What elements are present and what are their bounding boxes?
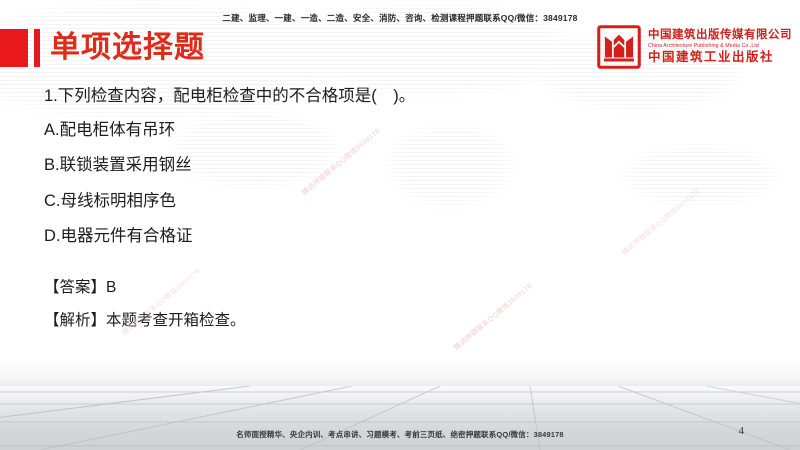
question-stem: 1.下列检查内容，配电柜检查中的不合格项是( )。	[44, 88, 744, 105]
option-d[interactable]: D.电器元件有合格证	[44, 228, 744, 245]
page-title: 单项选择题	[50, 33, 205, 63]
slide-canvas: 二建、监理、一建、一造、二造、安全、消防、咨询、检测课程押题联系QQ/微信：38…	[0, 0, 800, 450]
slide-title-block: 单项选择题	[0, 28, 205, 68]
content-spacer	[44, 264, 744, 280]
title-square-decoration	[0, 29, 28, 67]
publisher-logo: 中国建筑出版传媒有限公司 China Architecture Publishi…	[597, 25, 792, 69]
question-content: 1.下列检查内容，配电柜检查中的不合格项是( )。 A.配电柜体有吊环 B.联锁…	[44, 88, 744, 347]
title-bar-decoration	[34, 29, 40, 67]
backdrop-wall	[0, 360, 800, 386]
answer-line: 【答案】B	[44, 280, 744, 296]
publisher-company-cn: 中国建筑出版传媒有限公司	[648, 28, 792, 42]
publisher-logo-text: 中国建筑出版传媒有限公司 China Architecture Publishi…	[648, 28, 792, 65]
header-contact-text: 二建、监理、一建、一造、二造、安全、消防、咨询、检测课程押题联系QQ/微信：38…	[0, 12, 800, 24]
option-c[interactable]: C.母线标明相序色	[44, 193, 744, 210]
perspective-floor	[0, 386, 800, 450]
page-number: 4	[739, 425, 745, 437]
option-a[interactable]: A.配电柜体有吊环	[44, 122, 744, 139]
option-b[interactable]: B.联锁装置采用钢丝	[44, 157, 744, 174]
publisher-press-cn: 中国建筑工业出版社	[648, 49, 792, 65]
open-book-logo-icon	[597, 25, 641, 69]
footer-note: 名师面授精华、央企内训、考点串讲、习题模考、考前三页纸、绝密押题联系QQ/微信：…	[0, 429, 800, 440]
analysis-line: 【解析】本题考查开箱检查。	[44, 313, 744, 329]
publisher-company-en: China Architecture Publishing & Media Co…	[648, 43, 792, 50]
floor-grid-lines	[0, 386, 800, 450]
